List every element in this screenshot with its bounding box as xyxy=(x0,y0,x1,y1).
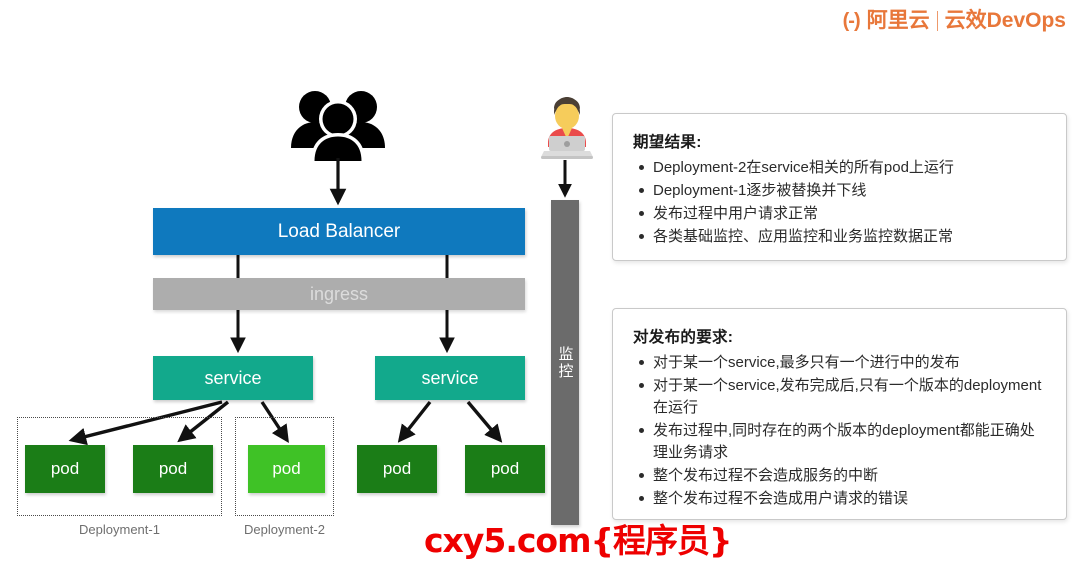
list-item: Deployment-2在service相关的所有pod上运行 xyxy=(653,157,1046,179)
load-balancer-node[interactable]: Load Balancer xyxy=(153,208,525,255)
alibaba-cloud-logo: (-) 阿里云 云效DevOps xyxy=(843,10,1066,31)
alibaba-cloud-mark-icon: (-) xyxy=(843,11,860,31)
list-item: 整个发布过程不会造成服务的中断 xyxy=(653,465,1046,487)
list-item: 对于某一个service,发布完成后,只有一个版本的deployment在运行 xyxy=(653,375,1046,419)
deployment-1-label: Deployment-1 xyxy=(17,522,222,537)
release-requirements-card: 对发布的要求: 对于某一个service,最多只有一个进行中的发布 对于某一个s… xyxy=(612,308,1067,520)
people-group-icon xyxy=(286,86,390,161)
pod-node-1[interactable]: pod xyxy=(25,445,105,493)
list-item: 对于某一个service,最多只有一个进行中的发布 xyxy=(653,352,1046,374)
release-requirements-title: 对发布的要求: xyxy=(633,325,1046,347)
release-requirements-list: 对于某一个service,最多只有一个进行中的发布 对于某一个service,发… xyxy=(633,352,1046,510)
watermark-text: cxy5.com{程序员} xyxy=(424,514,731,562)
ingress-node[interactable]: ingress xyxy=(153,278,525,310)
expected-results-list: Deployment-2在service相关的所有pod上运行 Deployme… xyxy=(633,157,1046,248)
deployment-2-label: Deployment-2 xyxy=(235,522,334,537)
slide-canvas: (-) 阿里云 云效DevOps xyxy=(0,0,1080,564)
person-at-laptop-icon xyxy=(538,95,596,165)
list-item: Deployment-1逐步被替换并下线 xyxy=(653,180,1046,202)
pod-node-3[interactable]: pod xyxy=(248,445,325,493)
pod-node-4[interactable]: pod xyxy=(357,445,437,493)
logo-product-text: 云效DevOps xyxy=(945,10,1066,31)
logo-brand-text: 阿里云 xyxy=(867,10,930,31)
logo-divider xyxy=(937,11,938,31)
service-node-1[interactable]: service xyxy=(153,356,313,400)
list-item: 发布过程中,同时存在的两个版本的deployment都能正确处理业务请求 xyxy=(653,420,1046,464)
pod-node-2[interactable]: pod xyxy=(133,445,213,493)
list-item: 各类基础监控、应用监控和业务监控数据正常 xyxy=(653,226,1046,248)
expected-results-title: 期望结果: xyxy=(633,130,1046,152)
service-node-2[interactable]: service xyxy=(375,356,525,400)
expected-results-card: 期望结果: Deployment-2在service相关的所有pod上运行 De… xyxy=(612,113,1067,261)
monitoring-label: 监控 xyxy=(555,346,576,380)
list-item: 整个发布过程不会造成用户请求的错误 xyxy=(653,488,1046,510)
pod-node-5[interactable]: pod xyxy=(465,445,545,493)
monitoring-bar[interactable]: 监控 xyxy=(551,200,579,525)
list-item: 发布过程中用户请求正常 xyxy=(653,203,1046,225)
